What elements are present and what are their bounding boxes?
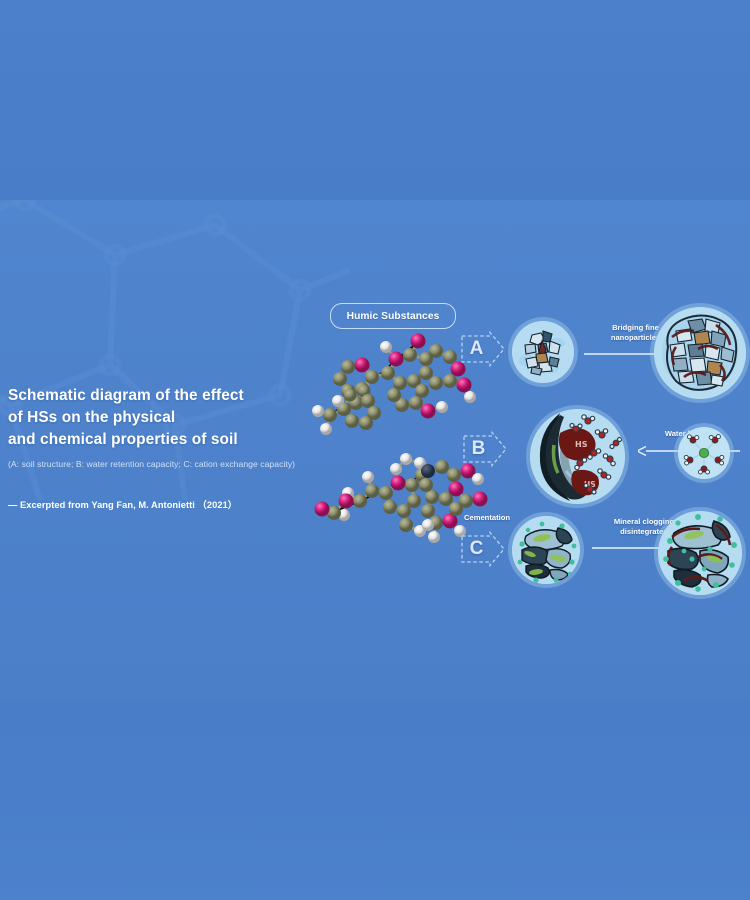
badge-b: B — [462, 431, 508, 467]
panel-bridged-aggregate — [654, 307, 746, 399]
source-attribution: — Excerpted from Yang Fan, M. Antonietti… — [8, 497, 338, 511]
background-bottom — [0, 700, 750, 900]
page-title-line-1: Schematic diagram of the effect — [8, 385, 338, 407]
badge-c: C — [460, 531, 506, 567]
panel-hs-water-retention: HS HS — [530, 409, 625, 504]
panel-loose-nanoparticles — [512, 321, 574, 383]
panel-hydrated-cation — [678, 427, 730, 479]
badge-b-letter: B — [462, 431, 495, 467]
page-title-line-2: of HSs on the physical — [8, 407, 338, 429]
panel-cemented-mineral — [512, 516, 580, 584]
schematic-figure: Schematic diagram of the effect of HSs o… — [0, 0, 750, 900]
background-top — [0, 0, 750, 200]
page-title-line-3: and chemical properties of soil — [8, 429, 338, 451]
row-soil-structure: A — [460, 305, 750, 405]
cementation-caption: Cementation — [464, 513, 510, 522]
panel-disintegrated-mineral — [658, 511, 742, 595]
panel-legend-subtitle: (A: soil structure; B: water retention c… — [8, 458, 338, 470]
hs-blob-label-1: HS — [575, 440, 588, 449]
row-cation-exchange: Cementation C — [460, 505, 750, 605]
humic-substances-label: Humic Substances — [347, 311, 440, 322]
headline-block: Schematic diagram of the effect of HSs o… — [8, 385, 338, 511]
badge-a-letter: A — [460, 331, 493, 367]
row-water-retention: B HS HS — [460, 405, 750, 510]
badge-a: A — [460, 331, 506, 367]
badge-c-letter: C — [460, 531, 493, 567]
